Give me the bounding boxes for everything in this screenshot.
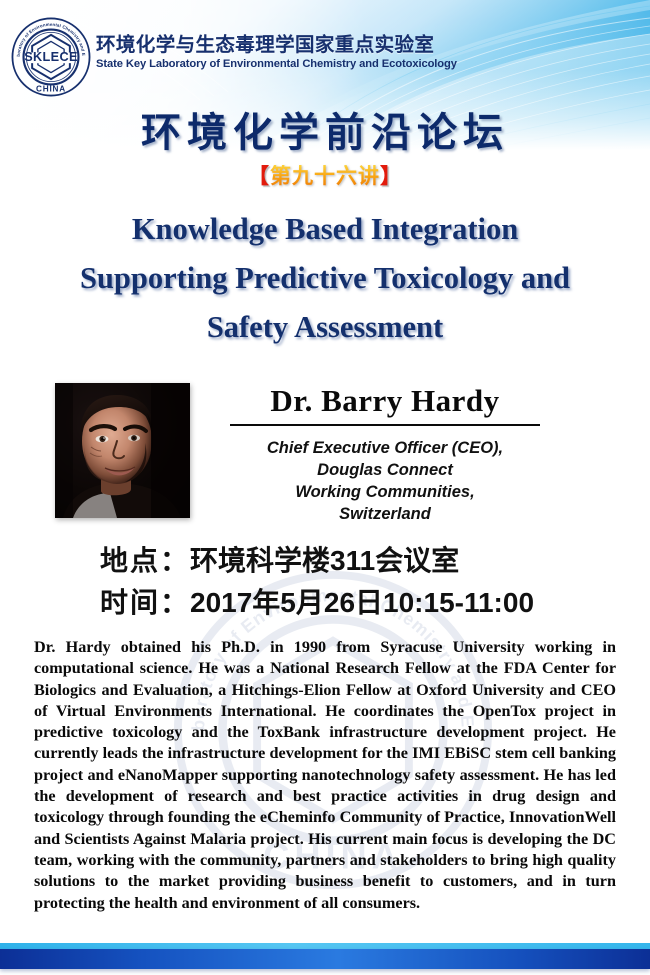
lab-name-english: State Key Laboratory of Environmental Ch…	[96, 59, 457, 70]
sklece-logo-icon: SKLECE CHINA State Key Laboratory of Env…	[10, 16, 92, 98]
footer-bar	[0, 943, 650, 969]
speaker-name: Dr. Barry Hardy	[230, 383, 540, 426]
forum-title-chinese: 环境化学前沿论坛	[0, 100, 650, 158]
talk-title-line-3: Safety Assessment	[25, 303, 625, 352]
affiliation-line-3: Working Communities,	[230, 481, 540, 503]
sklece-seal-logo: SKLECE CHINA State Key Laboratory of Env…	[10, 16, 92, 98]
time-value: 2017年5月26日10:15-11:00	[190, 587, 534, 618]
talk-title-line-1: Knowledge Based Integration	[25, 205, 625, 254]
lecture-bracket-open: 【	[248, 165, 270, 188]
svg-text:SKLECE: SKLECE	[24, 49, 78, 64]
speaker-biography: Dr. Hardy obtained his Ph.D. in 1990 fro…	[34, 637, 616, 914]
event-details: 地点：环境科学楼311会议室 时间：2017年5月26日10:15-11:00	[0, 540, 650, 624]
lecture-number-badge: 【第九十六讲】	[0, 160, 650, 190]
time-line: 时间：2017年5月26日10:15-11:00	[0, 582, 650, 624]
affiliation-line-2: Douglas Connect	[230, 459, 540, 481]
lecture-bracket-close: 】	[380, 165, 402, 188]
talk-title-line-2: Supporting Predictive Toxicology and	[25, 254, 625, 303]
venue-label: 地点：	[100, 545, 190, 576]
footer-main-strip	[0, 949, 650, 969]
svg-text:CHINA: CHINA	[36, 84, 66, 93]
speaker-photo	[55, 383, 190, 518]
speaker-affiliation: Chief Executive Officer (CEO), Douglas C…	[230, 437, 540, 525]
lecture-number-text: 第九十六讲	[270, 165, 380, 188]
seminar-poster: SKLECE CHINA State Key Laboratory of Env…	[0, 0, 650, 975]
talk-title-english: Knowledge Based Integration Supporting P…	[25, 205, 625, 352]
affiliation-line-1: Chief Executive Officer (CEO),	[230, 437, 540, 459]
venue-line: 地点：环境科学楼311会议室	[0, 540, 650, 582]
time-label: 时间：	[100, 587, 190, 618]
speaker-portrait-image	[55, 383, 190, 518]
lab-name-block: 环境化学与生态毒理学国家重点实验室 State Key Laboratory o…	[96, 36, 457, 70]
affiliation-line-4: Switzerland	[230, 503, 540, 525]
lab-name-chinese: 环境化学与生态毒理学国家重点实验室	[96, 36, 457, 56]
venue-value: 环境科学楼311会议室	[190, 545, 459, 576]
